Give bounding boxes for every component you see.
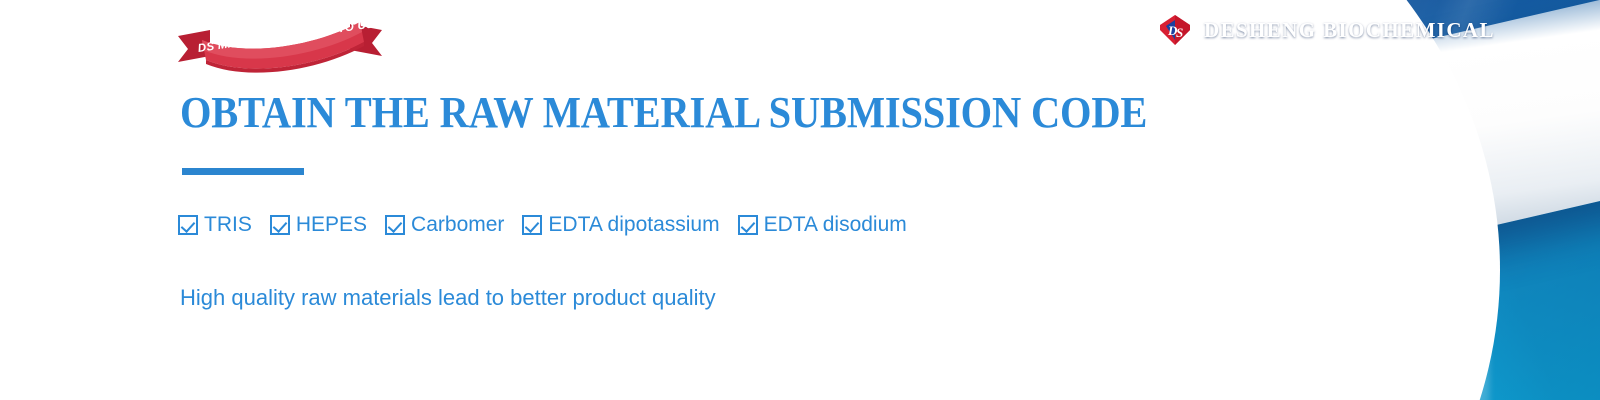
artwork-panel [880,0,1600,400]
promotional-banner: D S DESHENG BIOCHEMICAL DS MATERIAL, SEC… [0,0,1600,400]
checkbox-checked-icon[interactable] [270,215,290,235]
checkbox-checked-icon[interactable] [385,215,405,235]
checklist-item-label: EDTA dipotassium [548,214,719,236]
product-checklist: TRIS HEPES Carbomer EDTA dipotassium EDT… [178,214,907,236]
checklist-item-label: TRIS [204,214,252,236]
tagline: High quality raw materials lead to bette… [180,285,716,311]
checklist-item[interactable]: Carbomer [385,214,504,236]
checkbox-checked-icon[interactable] [522,215,542,235]
ribbon-badge: DS MATERIAL, SECURE TO USE [176,16,384,74]
page-title: OBTAIN THE RAW MATERIAL SUBMISSION CODE [180,88,1008,138]
checklist-item[interactable]: TRIS [178,214,252,236]
content-column: DS MATERIAL, SECURE TO USE OBTAIN THE RA… [0,0,900,400]
checkbox-checked-icon[interactable] [178,215,198,235]
brand-name: DESHENG BIOCHEMICAL [1204,18,1495,43]
checklist-item-label: HEPES [296,214,367,236]
svg-text:S: S [1176,25,1183,40]
checklist-item[interactable]: EDTA dipotassium [522,214,719,236]
checklist-item-label: Carbomer [411,214,504,236]
checklist-item[interactable]: EDTA disodium [738,214,907,236]
brand-lockup: D S DESHENG BIOCHEMICAL [1158,13,1495,47]
checklist-item-label: EDTA disodium [764,214,907,236]
desheng-logo-icon: D S [1158,13,1192,47]
title-divider [182,168,304,175]
checklist-item[interactable]: HEPES [270,214,367,236]
checkbox-checked-icon[interactable] [738,215,758,235]
